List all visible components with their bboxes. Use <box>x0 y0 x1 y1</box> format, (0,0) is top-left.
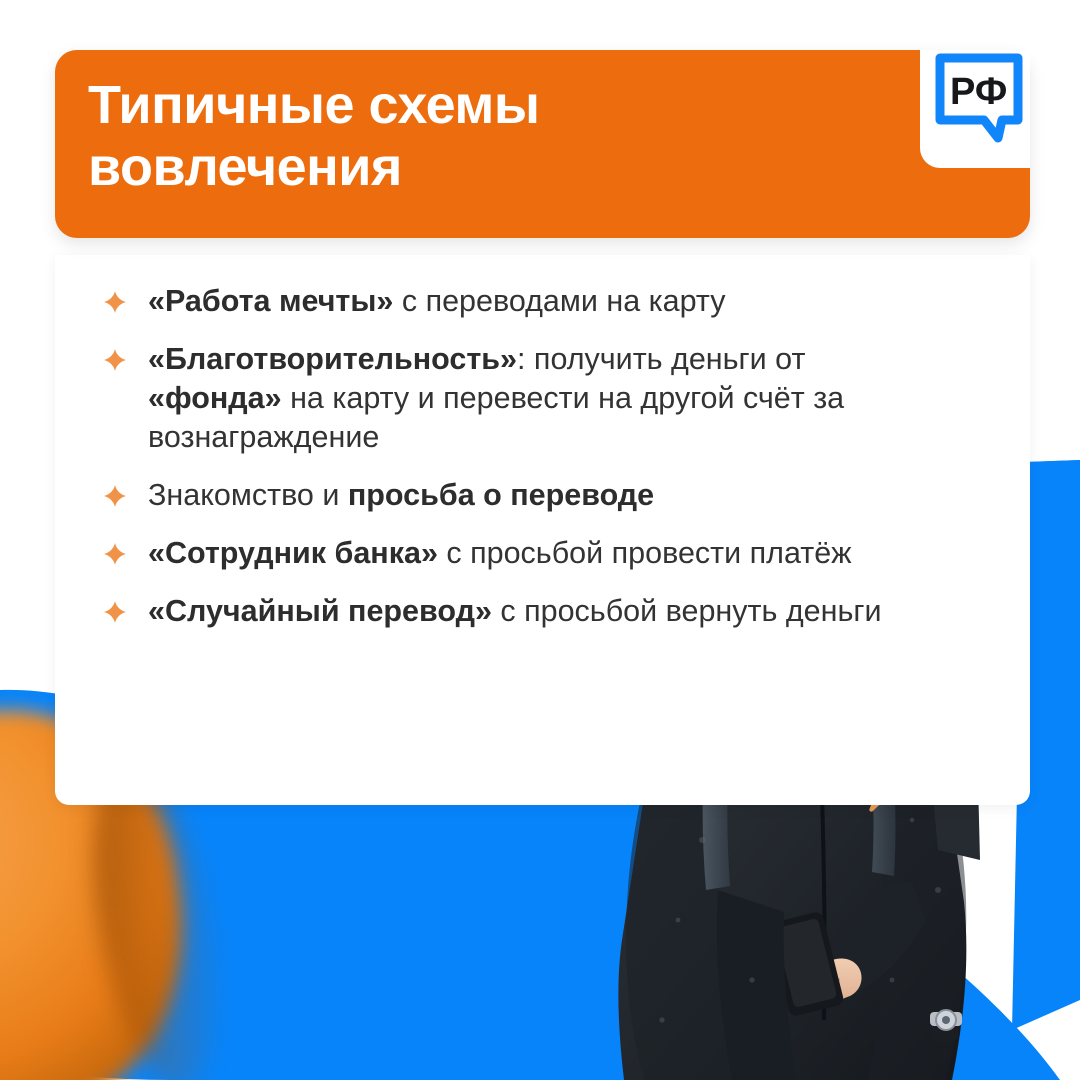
list-item-text-2: Знакомство и просьба о переводе <box>148 478 654 512</box>
diamond-bullet-icon <box>104 349 126 371</box>
list-item-text-1: «Благотворительность»: получить деньги о… <box>148 342 844 454</box>
list-item: «Сотрудник банка» с просьбой провести пл… <box>100 534 920 573</box>
list-item-text-0: «Работа мечты» с переводами на карту <box>148 284 725 318</box>
list-item: «Случайный перевод» с просьбой вернуть д… <box>100 592 920 631</box>
diamond-bullet-icon <box>104 601 126 623</box>
diamond-bullet-icon <box>104 485 126 507</box>
list-item-text-3: «Сотрудник банка» с просьбой провести пл… <box>148 536 852 570</box>
list-item: «Работа мечты» с переводами на карту <box>100 282 920 321</box>
diamond-bullet-icon <box>104 291 126 313</box>
rf-logo-text: РФ <box>950 71 1007 113</box>
list-item-text-4: «Случайный перевод» с просьбой вернуть д… <box>148 594 882 628</box>
page-title: Типичные схемы вовлечения <box>88 74 808 198</box>
schemes-list: «Работа мечты» с переводами на карту «Бл… <box>100 282 920 631</box>
rf-speech-bubble-logo: РФ <box>928 48 1026 160</box>
infographic-card: Типичные схемы вовлечения РФ «Работа меч… <box>0 0 1080 1080</box>
list-item: Знакомство и просьба о переводе <box>100 476 920 515</box>
list-item: «Благотворительность»: получить деньги о… <box>100 340 920 457</box>
diamond-bullet-icon <box>104 543 126 565</box>
